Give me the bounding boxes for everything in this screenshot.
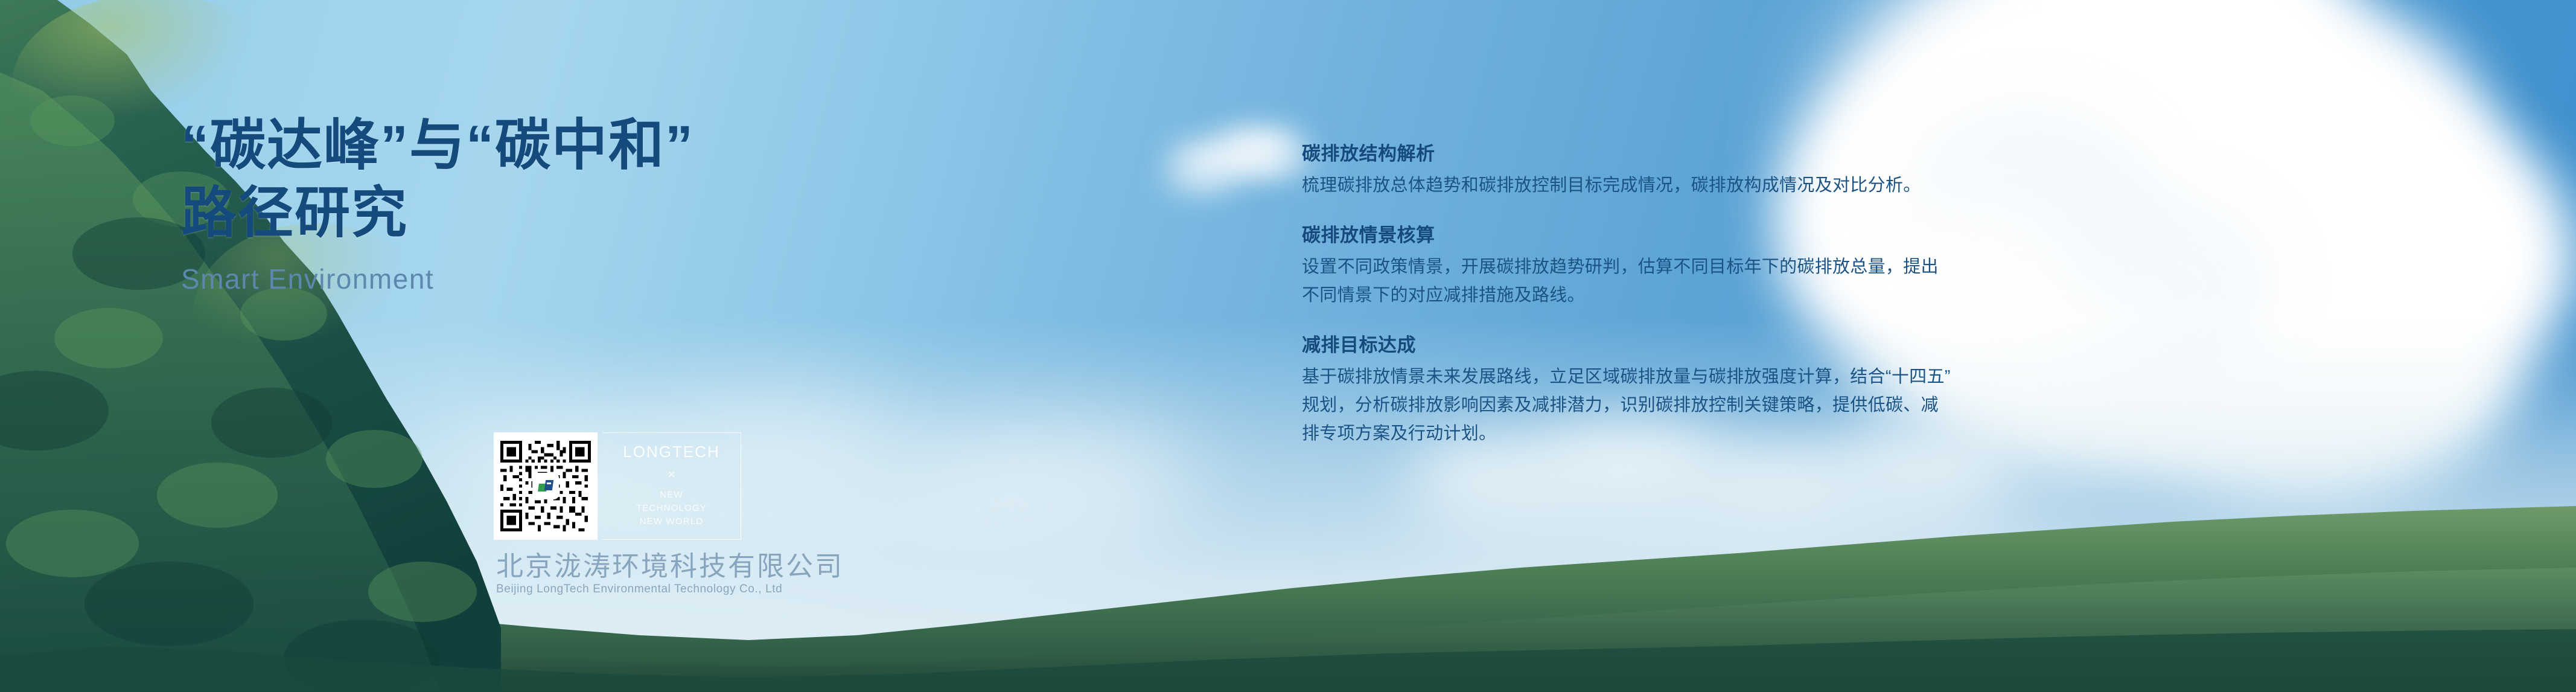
- section-body-line: 排专项方案及行动计划。: [1302, 420, 2111, 448]
- watermark-en: Beijing LongTech Environmental Technolog…: [496, 583, 786, 595]
- tagline-line-2: TECHNOLOGY: [636, 502, 707, 515]
- tagline-line-3: NEW WORLD: [636, 515, 707, 528]
- longtech-logo-mark: [538, 480, 553, 492]
- section-body-line: 规划，分析碳排放影响因素及减排潜力，识别碳排放控制关键策略，提供低碳、减: [1302, 391, 2111, 420]
- section-heading: 碳排放结构解析: [1302, 143, 2111, 165]
- qr-code-image[interactable]: [500, 441, 591, 531]
- section-body-line: 基于碳排放情景未来发展路线，立足区域碳排放量与碳排放强度计算，结合“十四五”: [1302, 363, 2111, 391]
- section-body: 梳理碳排放总体趋势和碳排放控制目标完成情况，碳排放构成情况及对比分析。: [1302, 171, 2111, 200]
- section-body-line: 不同情景下的对应减排措施及路线。: [1302, 281, 2111, 310]
- company-watermark: 北京泷涛环境科技有限公司 Beijing LongTech Environmen…: [496, 553, 786, 595]
- foreground-trees: [0, 583, 2576, 692]
- brand-tagline: NEW TECHNOLOGY NEW WORLD: [636, 489, 707, 528]
- title-subtitle: Smart Environment: [181, 263, 676, 295]
- section-heading: 碳排放情景核算: [1302, 224, 2111, 246]
- feature-sections: 碳排放结构解析 梳理碳排放总体趋势和碳排放控制目标完成情况，碳排放构成情况及对比…: [1302, 143, 2111, 448]
- brand-cross-icon: ×: [668, 467, 675, 482]
- brand-panel: LONGTECH × NEW TECHNOLOGY NEW WORLD: [602, 432, 741, 540]
- brand-name: LONGTECH: [623, 444, 719, 460]
- qr-center-logo: [534, 474, 558, 498]
- feature-section: 碳排放情景核算 设置不同政策情景，开展碳排放趋势研判，估算不同目标年下的碳排放总…: [1302, 224, 2111, 310]
- tagline-line-1: NEW: [636, 489, 707, 502]
- feature-section: 碳排放结构解析 梳理碳排放总体趋势和碳排放控制目标完成情况，碳排放构成情况及对比…: [1302, 143, 2111, 200]
- qr-code-card[interactable]: [494, 432, 598, 540]
- qr-brand-zone: LONGTECH × NEW TECHNOLOGY NEW WORLD: [494, 432, 765, 546]
- section-body: 基于碳排放情景未来发展路线，立足区域碳排放量与碳排放强度计算，结合“十四五” 规…: [1302, 363, 2111, 448]
- watermark-cn: 北京泷涛环境科技有限公司: [496, 553, 786, 580]
- feature-section: 减排目标达成 基于碳排放情景未来发展路线，立足区域碳排放量与碳排放强度计算，结合…: [1302, 334, 2111, 448]
- hero-banner: “碳达峰”与“碳中和” 路径研究 Smart Environment: [0, 0, 2576, 692]
- section-heading: 减排目标达成: [1302, 334, 2111, 356]
- section-body-line: 设置不同政策情景，开展碳排放趋势研判，估算不同目标年下的碳排放总量，提出: [1302, 253, 2111, 281]
- section-body: 设置不同政策情景，开展碳排放趋势研判，估算不同目标年下的碳排放总量，提出 不同情…: [1302, 253, 2111, 310]
- title-line-1: “碳达峰”与“碳中和”: [181, 112, 676, 179]
- title-line-2: 路径研究: [181, 179, 676, 247]
- section-body-line: 梳理碳排放总体趋势和碳排放控制目标完成情况，碳排放构成情况及对比分析。: [1302, 171, 2111, 200]
- title-block: “碳达峰”与“碳中和” 路径研究 Smart Environment: [181, 112, 676, 295]
